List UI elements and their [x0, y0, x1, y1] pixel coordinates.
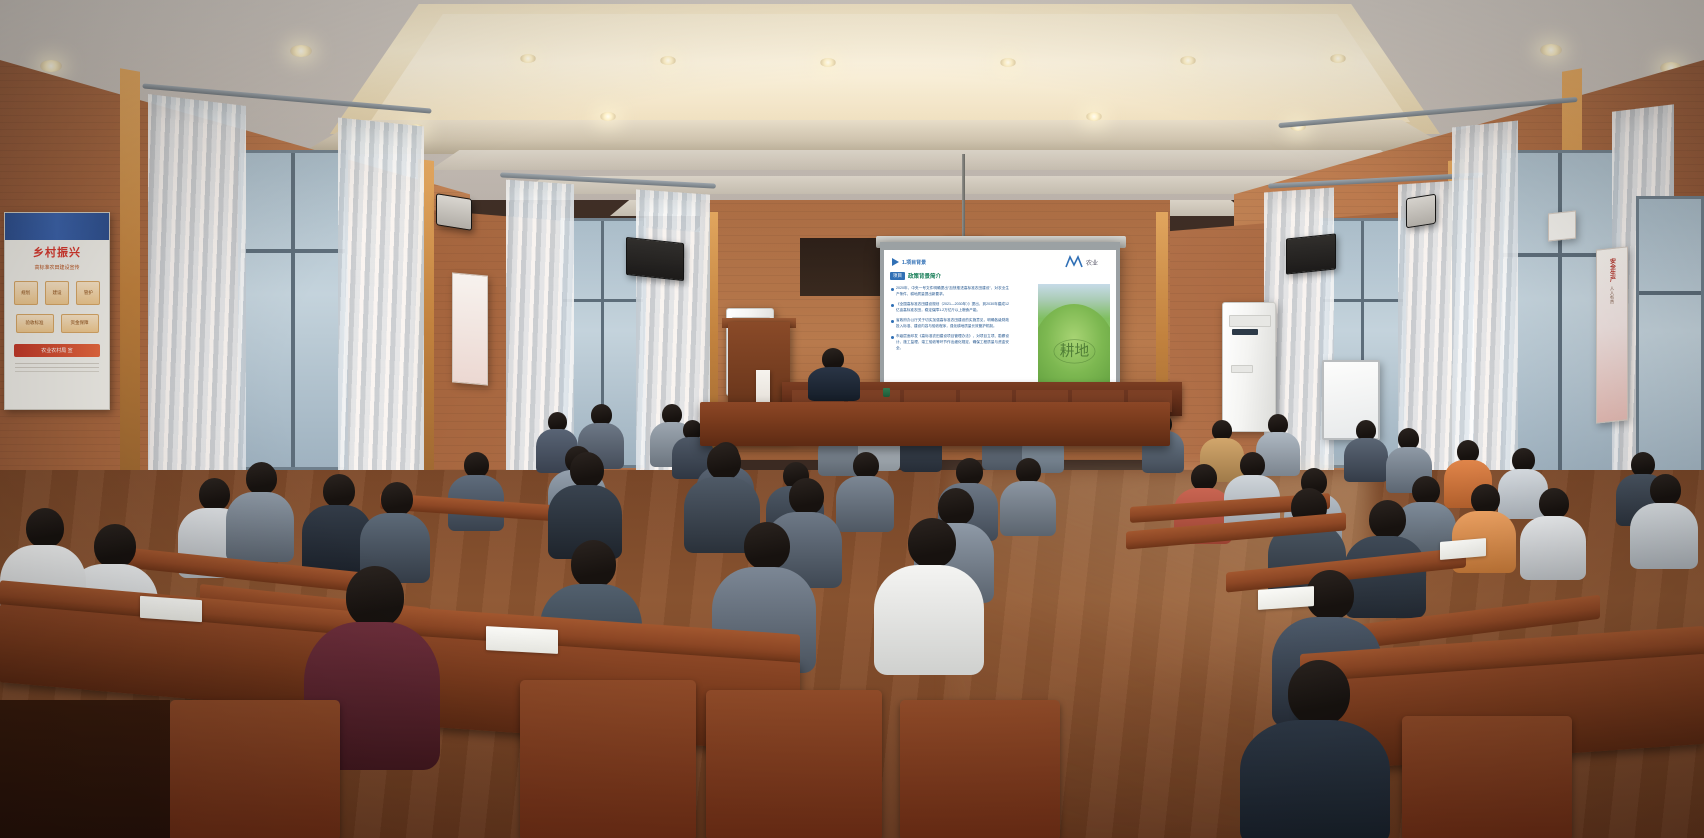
curtain-left-1	[148, 94, 246, 498]
slide-tag: 项目	[890, 272, 905, 280]
wall-plaque-right	[1548, 211, 1576, 242]
chair	[900, 700, 1060, 838]
attendee	[1344, 420, 1388, 478]
poster-item: 管护	[76, 281, 100, 305]
bullet-dot-icon	[891, 304, 894, 307]
poster-right-title: 安全生产	[1608, 258, 1617, 283]
attendee	[1520, 488, 1586, 576]
poster-right-subtitle: 人人有责	[1609, 286, 1615, 305]
wall-speaker-left-icon	[626, 237, 684, 281]
poster-divider	[15, 371, 99, 372]
bullet-dot-icon	[891, 336, 894, 339]
ceiling-beam	[430, 150, 1410, 170]
poster-mid-left	[452, 272, 488, 385]
wall-speaker-right-icon	[1286, 233, 1336, 274]
attendee-foreground	[1240, 660, 1390, 838]
slide-header-1-text: 1.项目背景	[902, 259, 926, 266]
attendee	[1000, 458, 1056, 532]
projector-screen: 农业 1.项目背景 项目 政策背景简介 2020年，中央一号文件明确提出“加快推…	[884, 250, 1116, 392]
presenter	[806, 348, 862, 398]
slide-bullet-text: 市级层面印发《高标准农田建设项目管理办法》，对项目立项、勘察设计、施工监理、竣工…	[896, 334, 1009, 351]
attendee	[1630, 474, 1698, 566]
poster-item: 建设	[45, 281, 69, 305]
chair	[520, 680, 696, 838]
air-conditioner-right-icon	[1222, 302, 1276, 432]
attendee	[836, 452, 894, 528]
poster-divider	[15, 363, 99, 364]
wall-trim	[120, 68, 140, 502]
front-rail	[700, 402, 1170, 446]
poster-extra: 验收标准	[16, 314, 54, 333]
downlight-icon	[820, 58, 836, 67]
ceiling-coffer-inner	[370, 14, 1410, 122]
projector-mount-pole	[962, 154, 965, 238]
downlight-icon	[1330, 54, 1346, 63]
poster-left: 乡村振兴 高标准农田建设宣传 规划 建设 管护 验收标准 资金保障 农业农村局 …	[4, 212, 110, 410]
downlight-icon	[520, 54, 536, 63]
svg-text:耕地: 耕地	[1059, 341, 1089, 359]
slide-bullet: 《全国高标准农田建设规划（2021—2030年）》提出，到2030年建成12亿亩…	[891, 302, 1009, 313]
slide-photo-caption: 耕地	[1050, 329, 1099, 370]
downlight-icon	[290, 45, 312, 57]
slide-bullet-text: 省政府办公厅关于切实加强高标准农田建设的实施意见，明确各级财政投入标准、建设内容…	[896, 318, 1009, 329]
slide-bullet: 2020年，中央一号文件明确提出“加快推进高标准农田建设”，对农业生产条件、耕地…	[891, 286, 1009, 297]
desk-panel	[0, 700, 170, 838]
attendee	[874, 518, 984, 674]
poster-left-title: 乡村振兴	[5, 247, 109, 259]
slide-bullet-list: 2020年，中央一号文件明确提出“加快推进高标准农田建设”，对农业生产条件、耕地…	[891, 286, 1009, 356]
slide-bullet: 市级层面印发《高标准农田建设项目管理办法》，对项目立项、勘察设计、施工监理、竣工…	[891, 334, 1009, 351]
wall-lamp-right-icon	[1406, 194, 1436, 229]
curtain-left-2	[338, 117, 424, 496]
chair	[1402, 716, 1572, 838]
notes-paper	[140, 596, 202, 622]
downlight-icon	[40, 60, 62, 72]
chair	[170, 700, 340, 838]
window-right-3	[1636, 196, 1704, 496]
slide-bullet-text: 《全国高标准农田建设规划（2021—2030年）》提出，到2030年建成12亿亩…	[896, 302, 1009, 313]
slide-photo: 耕地	[1038, 284, 1110, 386]
poster-extra: 资金保障	[61, 314, 99, 333]
poster-header-band	[5, 213, 109, 240]
svg-text:农业: 农业	[1086, 259, 1098, 267]
poster-item: 规划	[14, 281, 38, 305]
downlight-icon	[1000, 58, 1016, 67]
poster-footer: 农业农村局 宣	[14, 344, 100, 357]
notes-paper	[1258, 586, 1314, 610]
slide-header-1: 1.项目背景	[892, 258, 926, 266]
poster-divider	[15, 367, 99, 368]
slide-bullet: 省政府办公厅关于切实加强高标准农田建设的实施意见，明确各级财政投入标准、建设内容…	[891, 318, 1009, 329]
slide-arrow-icon	[892, 258, 899, 266]
downlight-icon	[1540, 44, 1562, 56]
slide-logo: 农业	[1064, 255, 1110, 269]
green-cup-icon	[883, 388, 890, 397]
poster-right: 安全生产 人人有责	[1596, 246, 1628, 423]
slide-header-2-text: 政策背景简介	[908, 272, 941, 280]
chair	[706, 690, 882, 838]
bullet-dot-icon	[891, 320, 894, 323]
bullet-dot-icon	[891, 288, 894, 291]
downlight-icon	[1180, 56, 1196, 65]
wall-lamp-left-icon	[436, 193, 472, 231]
poster-left-subtitle: 高标准农田建设宣传	[5, 264, 109, 271]
attendee	[226, 462, 294, 558]
slide-header-2: 项目 政策背景简介	[890, 272, 941, 280]
notes-paper	[486, 626, 558, 654]
conference-room-photo: 乡村振兴 高标准农田建设宣传 规划 建设 管护 验收标准 资金保障 农业农村局 …	[0, 0, 1704, 838]
slide-bullet-text: 2020年，中央一号文件明确提出“加快推进高标准农田建设”，对农业生产条件、耕地…	[896, 286, 1009, 297]
downlight-icon	[660, 56, 676, 65]
window-left-1	[238, 150, 348, 470]
downlight-icon	[600, 112, 616, 121]
downlight-icon	[1086, 112, 1102, 121]
